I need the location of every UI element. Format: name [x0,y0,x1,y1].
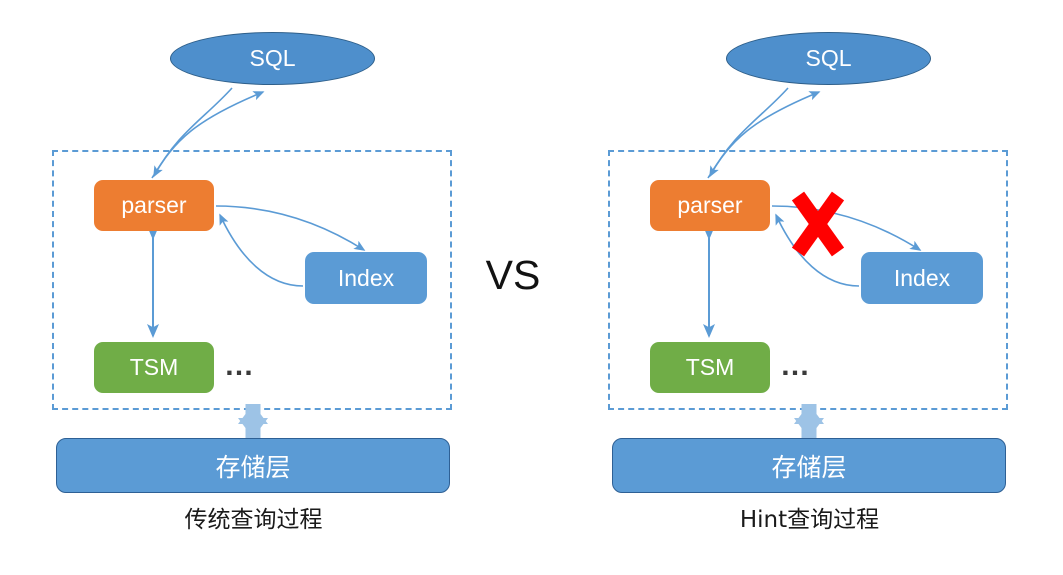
panel-hint-query: SQL parser Index TS [556,0,1063,575]
index-node[interactable]: Index [305,252,427,304]
versus-label: VS [470,252,556,299]
parser-node[interactable]: parser [94,180,214,231]
sql-node[interactable]: SQL [170,32,375,85]
storage-layer-bar[interactable]: 存储层 [56,438,450,493]
panel-caption: Hint查询过程 [556,500,1063,534]
parser-node[interactable]: parser [650,180,770,231]
index-node[interactable]: Index [861,252,983,304]
tsm-node[interactable]: TSM [650,342,770,393]
panel-caption: 传统查询过程 [0,500,507,534]
sql-node[interactable]: SQL [726,32,931,85]
more-engines-ellipsis: … [780,352,816,384]
storage-layer-bar[interactable]: 存储层 [612,438,1006,493]
more-engines-ellipsis: … [224,352,260,384]
tsm-node[interactable]: TSM [94,342,214,393]
diagram-canvas: SQL parser Index [0,0,1063,575]
panel-traditional-query: SQL parser Index [0,0,507,575]
